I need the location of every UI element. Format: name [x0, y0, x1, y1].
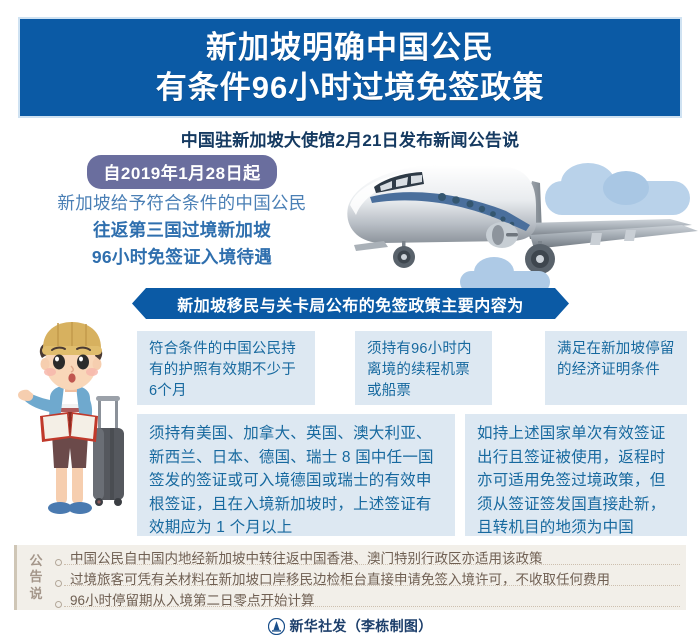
date-badge: 自2019年1月28日起 — [87, 155, 276, 189]
hero-section: 自2019年1月28日起 新加坡给予符合条件的中国公民 往返第三国过境新加坡 9… — [0, 155, 700, 287]
notice-item: 中国公民自中国内地经新加坡中转往返中国香港、澳门特别行政区亦适用该政策 — [55, 546, 680, 567]
infographic-page: 新加坡明确中国公民 有条件96小时过境免签政策 中国驻新加坡大使馆2月21日发布… — [0, 0, 700, 642]
notice-item-list: 中国公民自中国内地经新加坡中转往返中国香港、澳门特别行政区亦适用该政策 过境旅客… — [55, 545, 686, 610]
dotted-rule — [64, 564, 680, 565]
header-banner: 新加坡明确中国公民 有条件96小时过境免签政策 — [18, 17, 682, 118]
notice-label-char: 告 — [29, 569, 42, 585]
policy-box-third-country-visa: 须持有美国、加拿大、英国、澳大利亚、新西兰、日本、德国、瑞士 8 国中任一国签发… — [137, 414, 455, 536]
footer-credit: 新华社发（李栋制图） — [290, 616, 433, 636]
bullet-icon — [55, 601, 62, 608]
subtitle: 中国驻新加坡大使馆2月21日发布新闻公告说 — [0, 126, 700, 151]
suitcase-icon — [93, 396, 124, 506]
airplane-illustration — [330, 153, 700, 293]
notice-label-char: 公 — [29, 553, 42, 569]
bullet-icon — [55, 580, 62, 587]
dotted-rule — [64, 606, 680, 607]
notice-label-char: 说 — [29, 586, 42, 602]
policy-box-single-entry-return: 如持上述国家单次有效签证出行且签证被使用，返程时亦可适用免签过境政策，但须从签证… — [465, 414, 687, 536]
hero-line-1: 新加坡给予符合条件的中国公民 — [8, 191, 356, 216]
cloud-icon — [545, 181, 690, 215]
xinhua-logo-icon — [268, 618, 285, 635]
notice-panel: 公 告 说 中国公民自中国内地经新加坡中转往返中国香港、澳门特别行政区亦适用该政… — [14, 545, 686, 610]
hero-text-block: 自2019年1月28日起 新加坡给予符合条件的中国公民 往返第三国过境新加坡 9… — [8, 155, 356, 270]
notice-label: 公 告 说 — [17, 545, 55, 610]
policy-box-financial-proof: 满足在新加坡停留的经济证明条件 — [545, 331, 687, 405]
book-icon — [40, 412, 98, 442]
bullet-icon — [55, 559, 62, 566]
dotted-rule — [64, 585, 680, 586]
header-title-line-1: 新加坡明确中国公民 — [206, 29, 494, 67]
hero-line-2: 往返第三国过境新加坡 — [8, 218, 356, 243]
policy-box-passport-validity: 符合条件的中国公民持有的护照有效期不少于6个月 — [137, 331, 315, 405]
notice-item: 过境旅客可凭有关材料在新加坡口岸移民边检柜台直接申请免签入境许可，不收取任何费用 — [55, 567, 680, 588]
section-banner: 新加坡移民与关卡局公布的免签政策主要内容为 — [132, 288, 569, 319]
policy-box-onward-ticket: 须持有96小时内离境的续程机票或船票 — [355, 331, 492, 405]
traveler-illustration — [14, 322, 138, 537]
header-title-line-2: 有条件96小时过境免签政策 — [156, 69, 544, 107]
hero-line-3: 96小时免签证入境待遇 — [8, 245, 356, 270]
notice-item: 96小时停留期从入境第二日零点开始计算 — [55, 588, 680, 609]
footer: 新华社发（李栋制图） — [0, 616, 700, 636]
